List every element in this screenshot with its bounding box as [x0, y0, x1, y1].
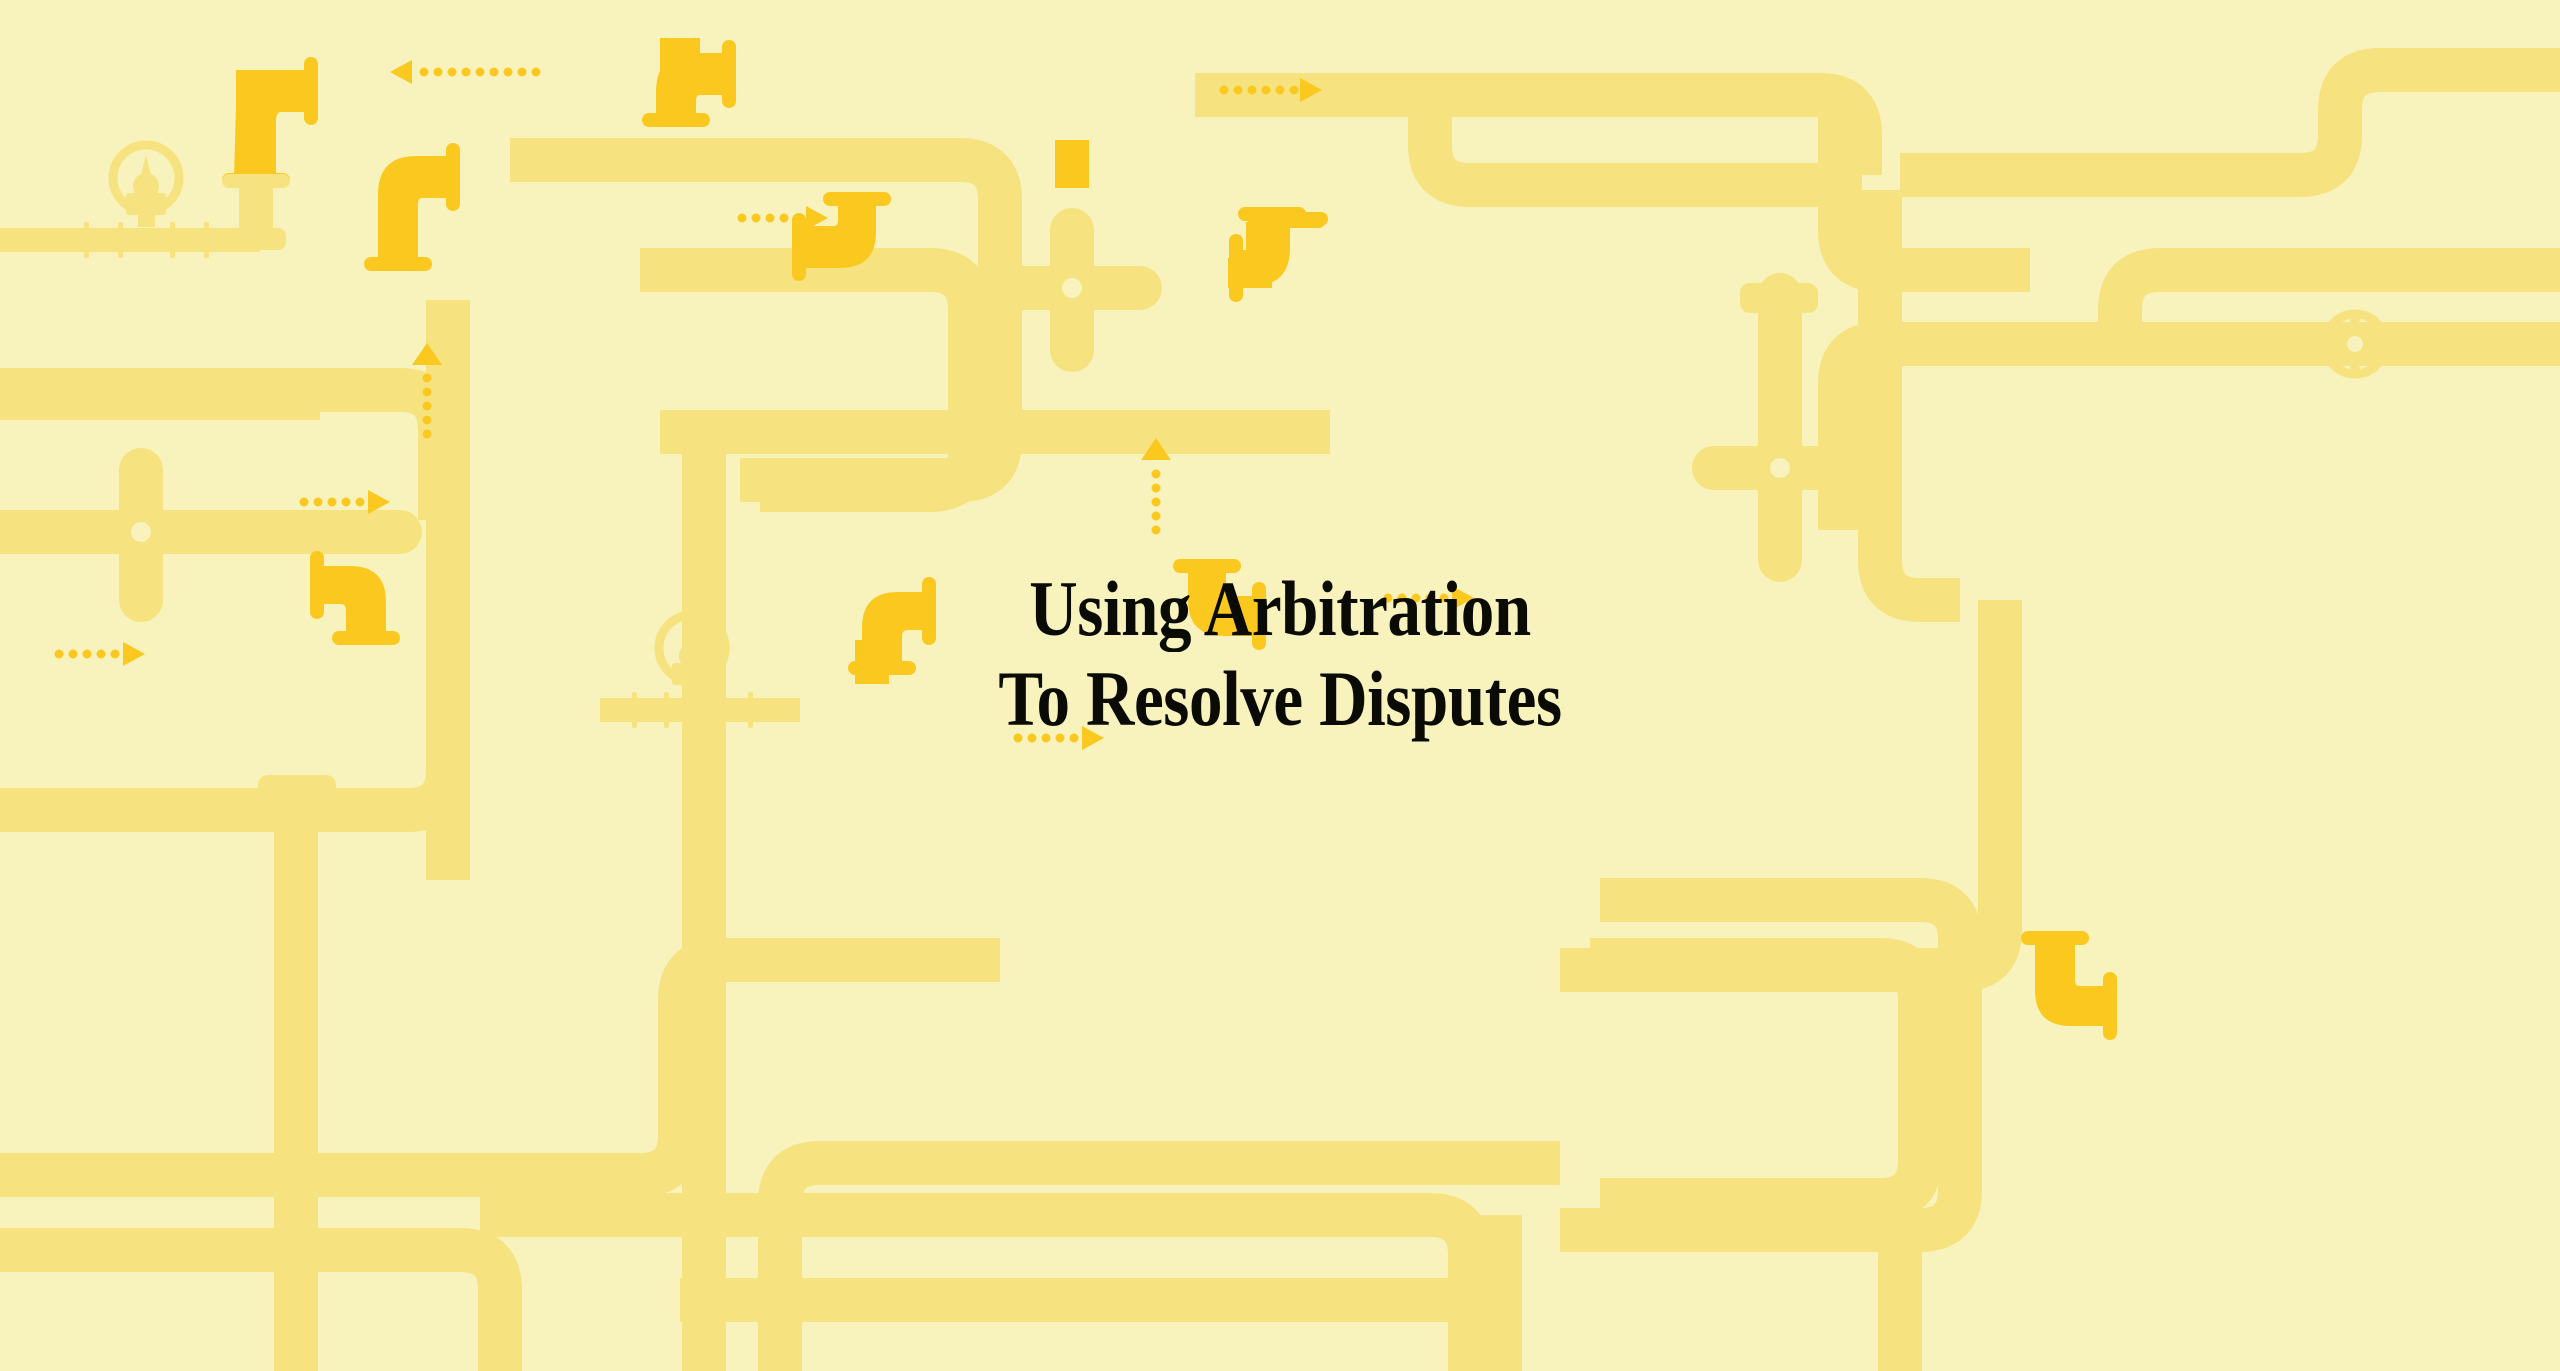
gold-stub-bottomcentre — [855, 640, 889, 684]
gold-stub-right-upper — [1055, 140, 1089, 188]
cross-valve-right — [1045, 261, 1099, 315]
pipe-cap-bottom-left — [258, 775, 336, 805]
cross-valve-centre-right — [1753, 441, 1807, 495]
pipe-network-illustration — [0, 0, 2560, 1371]
pipe-cap-right-upper — [1740, 283, 1818, 313]
poster-canvas: Using Arbitration To Resolve Disputes — [0, 0, 2560, 1371]
cross-valve-left — [114, 505, 168, 559]
